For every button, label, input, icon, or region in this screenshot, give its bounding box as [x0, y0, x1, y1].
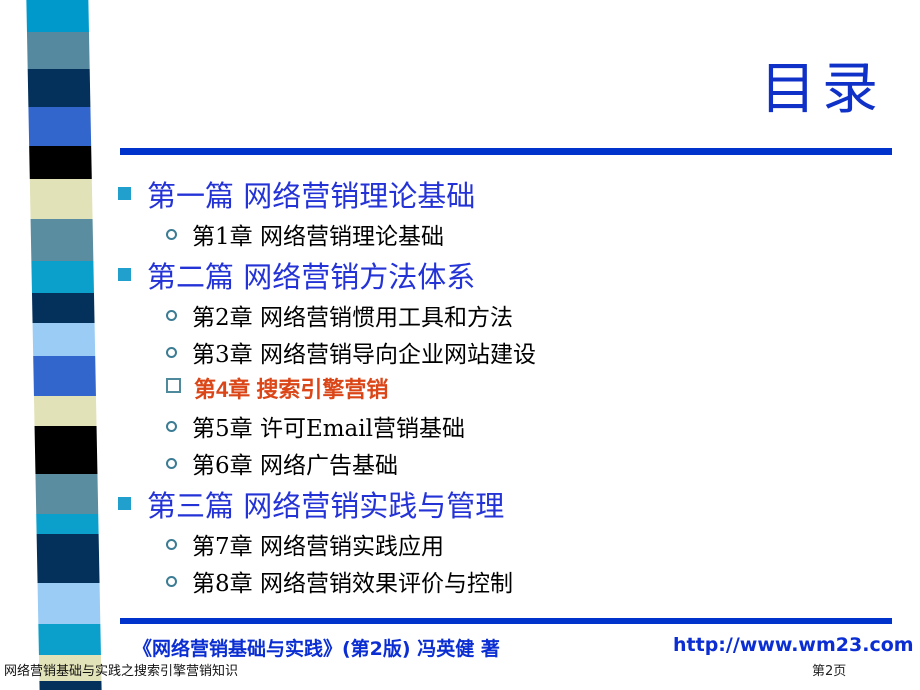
toc-item-label: 第5章 许可Email营销基础 [192, 409, 465, 443]
circle-bullet-icon [166, 421, 177, 432]
stripe-segment [36, 514, 98, 534]
stripe-segment [38, 583, 101, 624]
toc-item[interactable]: 第7章 网络营销实践应用 [166, 527, 818, 564]
circle-bullet-icon [166, 347, 177, 358]
stripe-segment [30, 179, 93, 219]
square-bullet-icon [118, 187, 131, 200]
toc-item-label: 第3章 网络营销导向企业网站建设 [192, 335, 536, 369]
toc-item[interactable]: 第2章 网络营销惯用工具和方法 [166, 298, 818, 335]
stripe-segment [35, 426, 98, 474]
stripe-segment [28, 107, 91, 146]
footer-book-credit: 《网络营销基础与实践》(第2版) 冯英健 著 [133, 634, 500, 661]
toc-item[interactable]: 第三篇 网络营销实践与管理 [118, 483, 818, 527]
circle-bullet-icon [166, 458, 177, 469]
stripe-segment [26, 0, 89, 32]
stripe-segment [31, 261, 94, 293]
circle-bullet-icon [166, 539, 177, 550]
toc-item-label: 第1章 网络营销理论基础 [192, 217, 444, 251]
stripe-segment [39, 681, 102, 690]
circle-bullet-icon [166, 229, 177, 240]
toc-item[interactable]: 第4章 搜索引擎营销 [166, 372, 818, 409]
stripe-segment [28, 69, 91, 107]
stripe-segment [35, 474, 98, 514]
overlay-note-text: 网络营销基础与实践之搜索引擎营销知识 [4, 660, 238, 679]
toc-item[interactable]: 第6章 网络广告基础 [166, 446, 818, 483]
footer-url-link[interactable]: http://www.wm23.com [673, 634, 914, 656]
hollow-square-bullet-icon [166, 378, 181, 393]
presentation-slide: 目录 第一篇 网络营销理论基础第1章 网络营销理论基础第二篇 网络营销方法体系第… [0, 0, 920, 690]
stripe-segments [26, 0, 101, 690]
stripe-segment [29, 146, 92, 179]
toc-item-label: 第2章 网络营销惯用工具和方法 [192, 298, 513, 332]
page-title: 目录 [760, 62, 884, 118]
toc-item-label: 第6章 网络广告基础 [192, 446, 398, 480]
stripe-segment [27, 32, 90, 69]
circle-bullet-icon [166, 576, 177, 587]
page-number: 第2页 [812, 660, 846, 679]
stripe-segment [32, 293, 95, 323]
toc-item[interactable]: 第5章 许可Email营销基础 [166, 409, 818, 446]
toc-item-label: 第7章 网络营销实践应用 [192, 527, 444, 561]
toc-item-label: 第8章 网络营销效果评价与控制 [192, 564, 513, 598]
stripe-segment [38, 624, 101, 655]
toc-item-label: 第4章 搜索引擎营销 [194, 372, 388, 404]
title-divider [120, 148, 892, 155]
left-color-stripe [0, 0, 110, 690]
toc-item[interactable]: 第二篇 网络营销方法体系 [118, 254, 818, 298]
footer-divider [120, 618, 892, 624]
circle-bullet-icon [166, 310, 177, 321]
stripe-segment [31, 219, 94, 261]
stripe-segment [33, 356, 96, 396]
toc-item-label: 第二篇 网络营销方法体系 [147, 254, 475, 296]
stripe-segment [34, 396, 97, 426]
table-of-contents-list: 第一篇 网络营销理论基础第1章 网络营销理论基础第二篇 网络营销方法体系第2章 … [118, 173, 818, 601]
square-bullet-icon [118, 497, 131, 510]
toc-item-label: 第三篇 网络营销实践与管理 [147, 483, 504, 525]
toc-item[interactable]: 第1章 网络营销理论基础 [166, 217, 818, 254]
toc-item[interactable]: 第一篇 网络营销理论基础 [118, 173, 818, 217]
toc-item[interactable]: 第3章 网络营销导向企业网站建设 [166, 335, 818, 372]
square-bullet-icon [118, 268, 131, 281]
toc-item[interactable]: 第8章 网络营销效果评价与控制 [166, 564, 818, 601]
toc-item-label: 第一篇 网络营销理论基础 [147, 173, 475, 215]
stripe-segment [33, 323, 96, 356]
stripe-segment [37, 534, 100, 583]
